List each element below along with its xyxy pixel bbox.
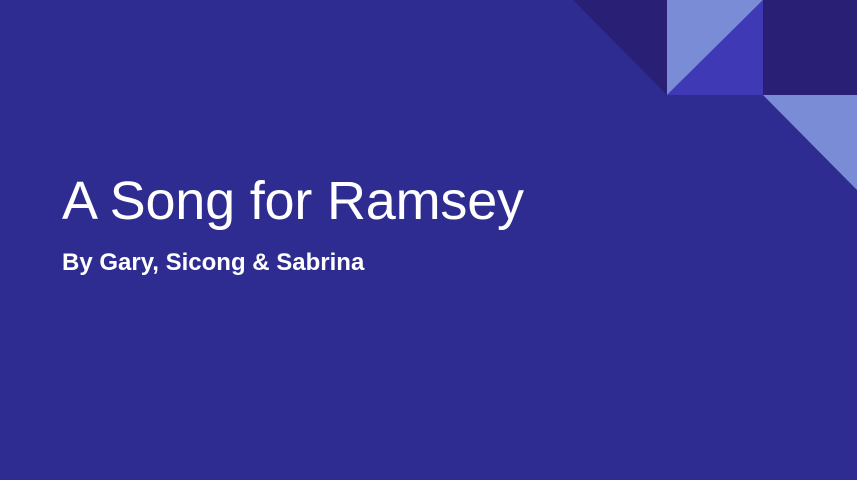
light-blue-square-half-shape [667,0,763,95]
slide-title: A Song for Ramsey [62,170,682,232]
presentation-slide: A Song for Ramsey By Gary, Sicong & Sabr… [0,0,857,480]
title-text-block: A Song for Ramsey By Gary, Sicong & Sabr… [62,170,682,278]
dark-navy-triangle-shape [573,0,667,95]
light-blue-triangle-shape [763,95,857,190]
dark-navy-rectangle-shape [763,0,857,95]
medium-blue-square-half-shape [667,0,763,95]
slide-subtitle: By Gary, Sicong & Sabrina [62,232,682,278]
